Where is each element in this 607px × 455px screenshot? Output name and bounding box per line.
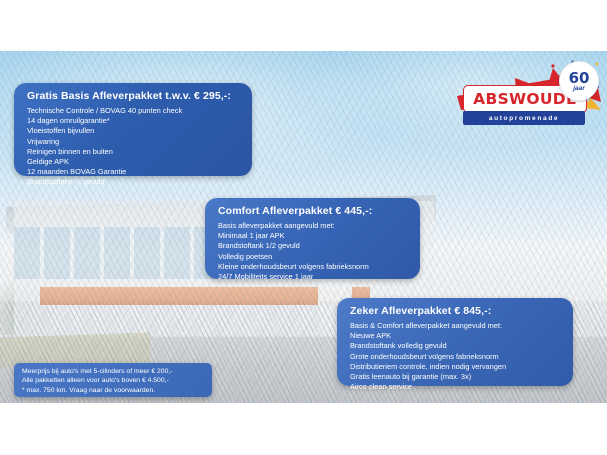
list-item: Brandstoftank volledig gevuld	[350, 341, 561, 351]
anniversary-badge: 60 jaar	[559, 61, 599, 101]
list-item: Brandstoftank 1/2 gevuld	[218, 241, 408, 251]
list-item: Technische Controle / BOVAG 40 punten ch…	[27, 106, 240, 116]
list-item: Nieuwe APK	[350, 331, 561, 341]
footnote-panel: Meerprijs bij auto's met 5-cilinders of …	[14, 363, 212, 397]
list-item: 24/7 Mobiliteits service 1 jaar	[218, 272, 408, 282]
list-item: Volledig poetsen	[218, 252, 408, 262]
list-item: Geldige APK	[27, 157, 240, 167]
list-item: 14 dagen omruilgarantie*	[27, 116, 240, 126]
list-item: Meerprijs bij auto's met 5-cilinders of …	[22, 367, 204, 376]
logo-tagline-bar: autopromenade	[463, 111, 585, 125]
package-title-comfort: Comfort Afleverpakket € 445,-:	[218, 205, 408, 218]
list-item: Basis afleverpakket aangevuld met:	[218, 221, 408, 231]
list-item: Distributieriem controle, indien nodig v…	[350, 362, 561, 372]
list-item: Kleine onderhoudsbeurt volgens fabrieksn…	[218, 262, 408, 272]
list-item: Reinigen binnen en buiten	[27, 147, 240, 157]
list-item: Gratis leenauto bij garantie (max. 3x)	[350, 372, 561, 382]
footnote-list: Meerprijs bij auto's met 5-cilinders of …	[22, 367, 204, 395]
list-item: Airco clean service	[350, 382, 561, 392]
package-feature-list-comfort: Basis afleverpakket aangevuld met: Minim…	[218, 221, 408, 282]
package-panel-zeker: Zeker Afleverpakket € 845,-: Basis & Com…	[337, 298, 573, 386]
list-item: Grote onderhoudsbeurt volgens fabrieksno…	[350, 352, 561, 362]
list-item: Vrijwaring	[27, 137, 240, 147]
list-item: Alle pakketten alleen voor auto's boven …	[22, 376, 204, 385]
logo-wordmark: ABSWOUDE	[473, 92, 577, 107]
package-title-basis: Gratis Basis Afleverpakket t.w.v. € 295,…	[27, 90, 240, 103]
list-item: 12 maanden BOVAG Garantie	[27, 167, 240, 177]
package-title-zeker: Zeker Afleverpakket € 845,-:	[350, 305, 561, 318]
anniversary-number: 60	[569, 71, 590, 85]
list-item: Minimaal 1 jaar APK	[218, 231, 408, 241]
promo-image: Gratis Basis Afleverpakket t.w.v. € 295,…	[0, 0, 607, 455]
logo-tagline: autopromenade	[489, 115, 559, 122]
anniversary-word: jaar	[573, 85, 585, 92]
brand-logo: ABSWOUDE autopromenade 60 jaar	[455, 58, 601, 130]
package-feature-list-basis: Technische Controle / BOVAG 40 punten ch…	[27, 106, 240, 188]
package-panel-basis: Gratis Basis Afleverpakket t.w.v. € 295,…	[14, 83, 252, 176]
package-panel-comfort: Comfort Afleverpakket € 445,-: Basis afl…	[205, 198, 420, 279]
list-item: Basis & Comfort afleverpakket aangevuld …	[350, 321, 561, 331]
list-item: * max. 750 km. Vraag naar de voorwaarden…	[22, 386, 204, 395]
list-item: Brandstoftank ¼ gevuld	[27, 177, 240, 187]
list-item: Vloeistoffen bijvullen	[27, 126, 240, 136]
package-feature-list-zeker: Basis & Comfort afleverpakket aangevuld …	[350, 321, 561, 392]
